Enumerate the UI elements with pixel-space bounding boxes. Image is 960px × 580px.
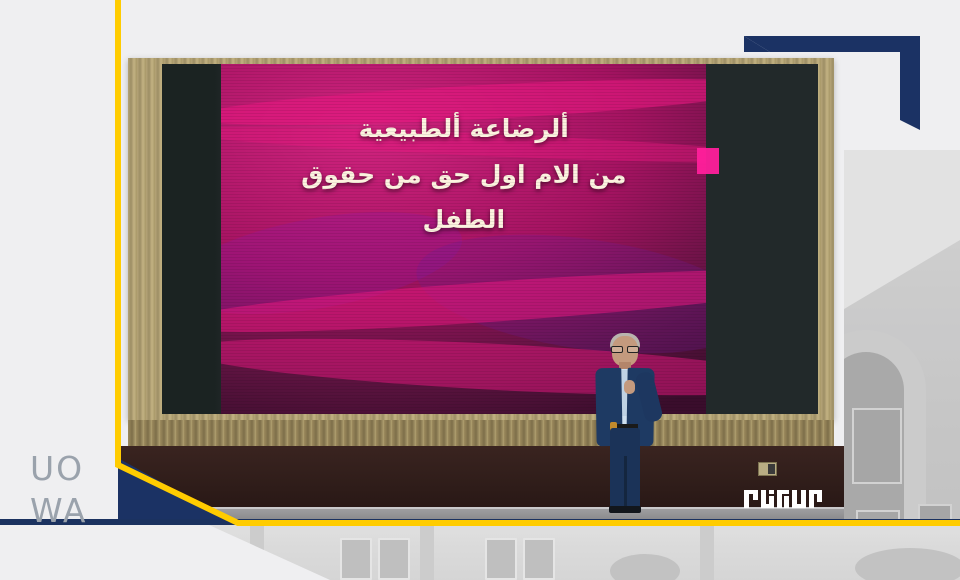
led-pink-highlight: [697, 148, 719, 174]
photo-window: [340, 538, 372, 580]
presenter-speaker: [590, 336, 658, 514]
led-presentation-screen: ألرضاعة ألطبيعية من الام اول حق من حقوق …: [162, 64, 818, 414]
presenter-hand: [624, 380, 635, 394]
photo-window: [378, 538, 410, 580]
kufic-arabic-wordmark: [744, 487, 822, 511]
wall-socket-icon: [758, 462, 777, 476]
uowa-logo-line-2: WA: [30, 494, 110, 527]
photo-column: [700, 524, 714, 580]
uowa-logo-line-1: UO: [30, 452, 110, 485]
screenshot-canvas: ألرضاعة ألطبيعية من الام اول حق من حقوق …: [0, 0, 960, 580]
screen-wood-frame: ألرضاعة ألطبيعية من الام اول حق من حقوق …: [128, 58, 834, 420]
photo-window: [485, 538, 517, 580]
photo-column: [420, 524, 434, 580]
presenter-shoes: [609, 506, 641, 513]
photo-window: [523, 538, 555, 580]
photo-shrub: [855, 548, 960, 580]
navy-baseline-rule: [0, 519, 960, 525]
photo-window: [852, 408, 902, 484]
presenter-leg-split: [624, 456, 627, 508]
glasses-icon: [611, 346, 639, 351]
uowa-logo: UO WA: [30, 452, 110, 534]
photo-shrub: [610, 554, 680, 580]
lecture-hall-photo: ألرضاعة ألطبيعية من الام اول حق من حقوق …: [118, 0, 844, 524]
